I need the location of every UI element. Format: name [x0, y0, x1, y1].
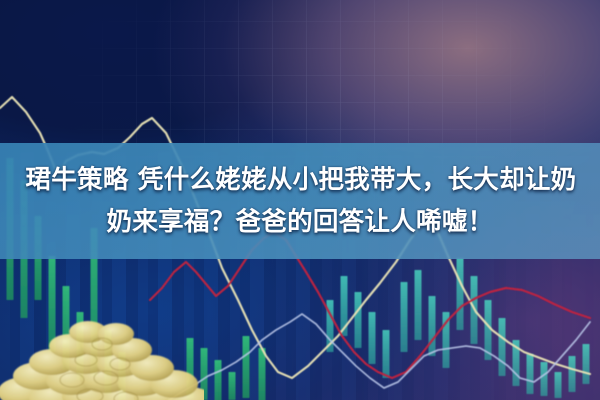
teal-candlestick-series [327, 248, 590, 400]
gold-coin-pile [0, 300, 204, 400]
headline-line-1: 珺牛策略 凭什么姥姥从小把我带大，长大却让奶 [24, 160, 577, 200]
thumbnail-banner: 珺牛策略 凭什么姥姥从小把我带大，长大却让奶 奶来享福？爸爸的回答让人唏嘘！ [0, 0, 600, 400]
headline-text: 珺牛策略 凭什么姥姥从小把我带大，长大却让奶 奶来享福？爸爸的回答让人唏嘘！ [0, 143, 600, 259]
headline-line-2: 奶来享福？爸爸的回答让人唏嘘！ [106, 202, 493, 242]
